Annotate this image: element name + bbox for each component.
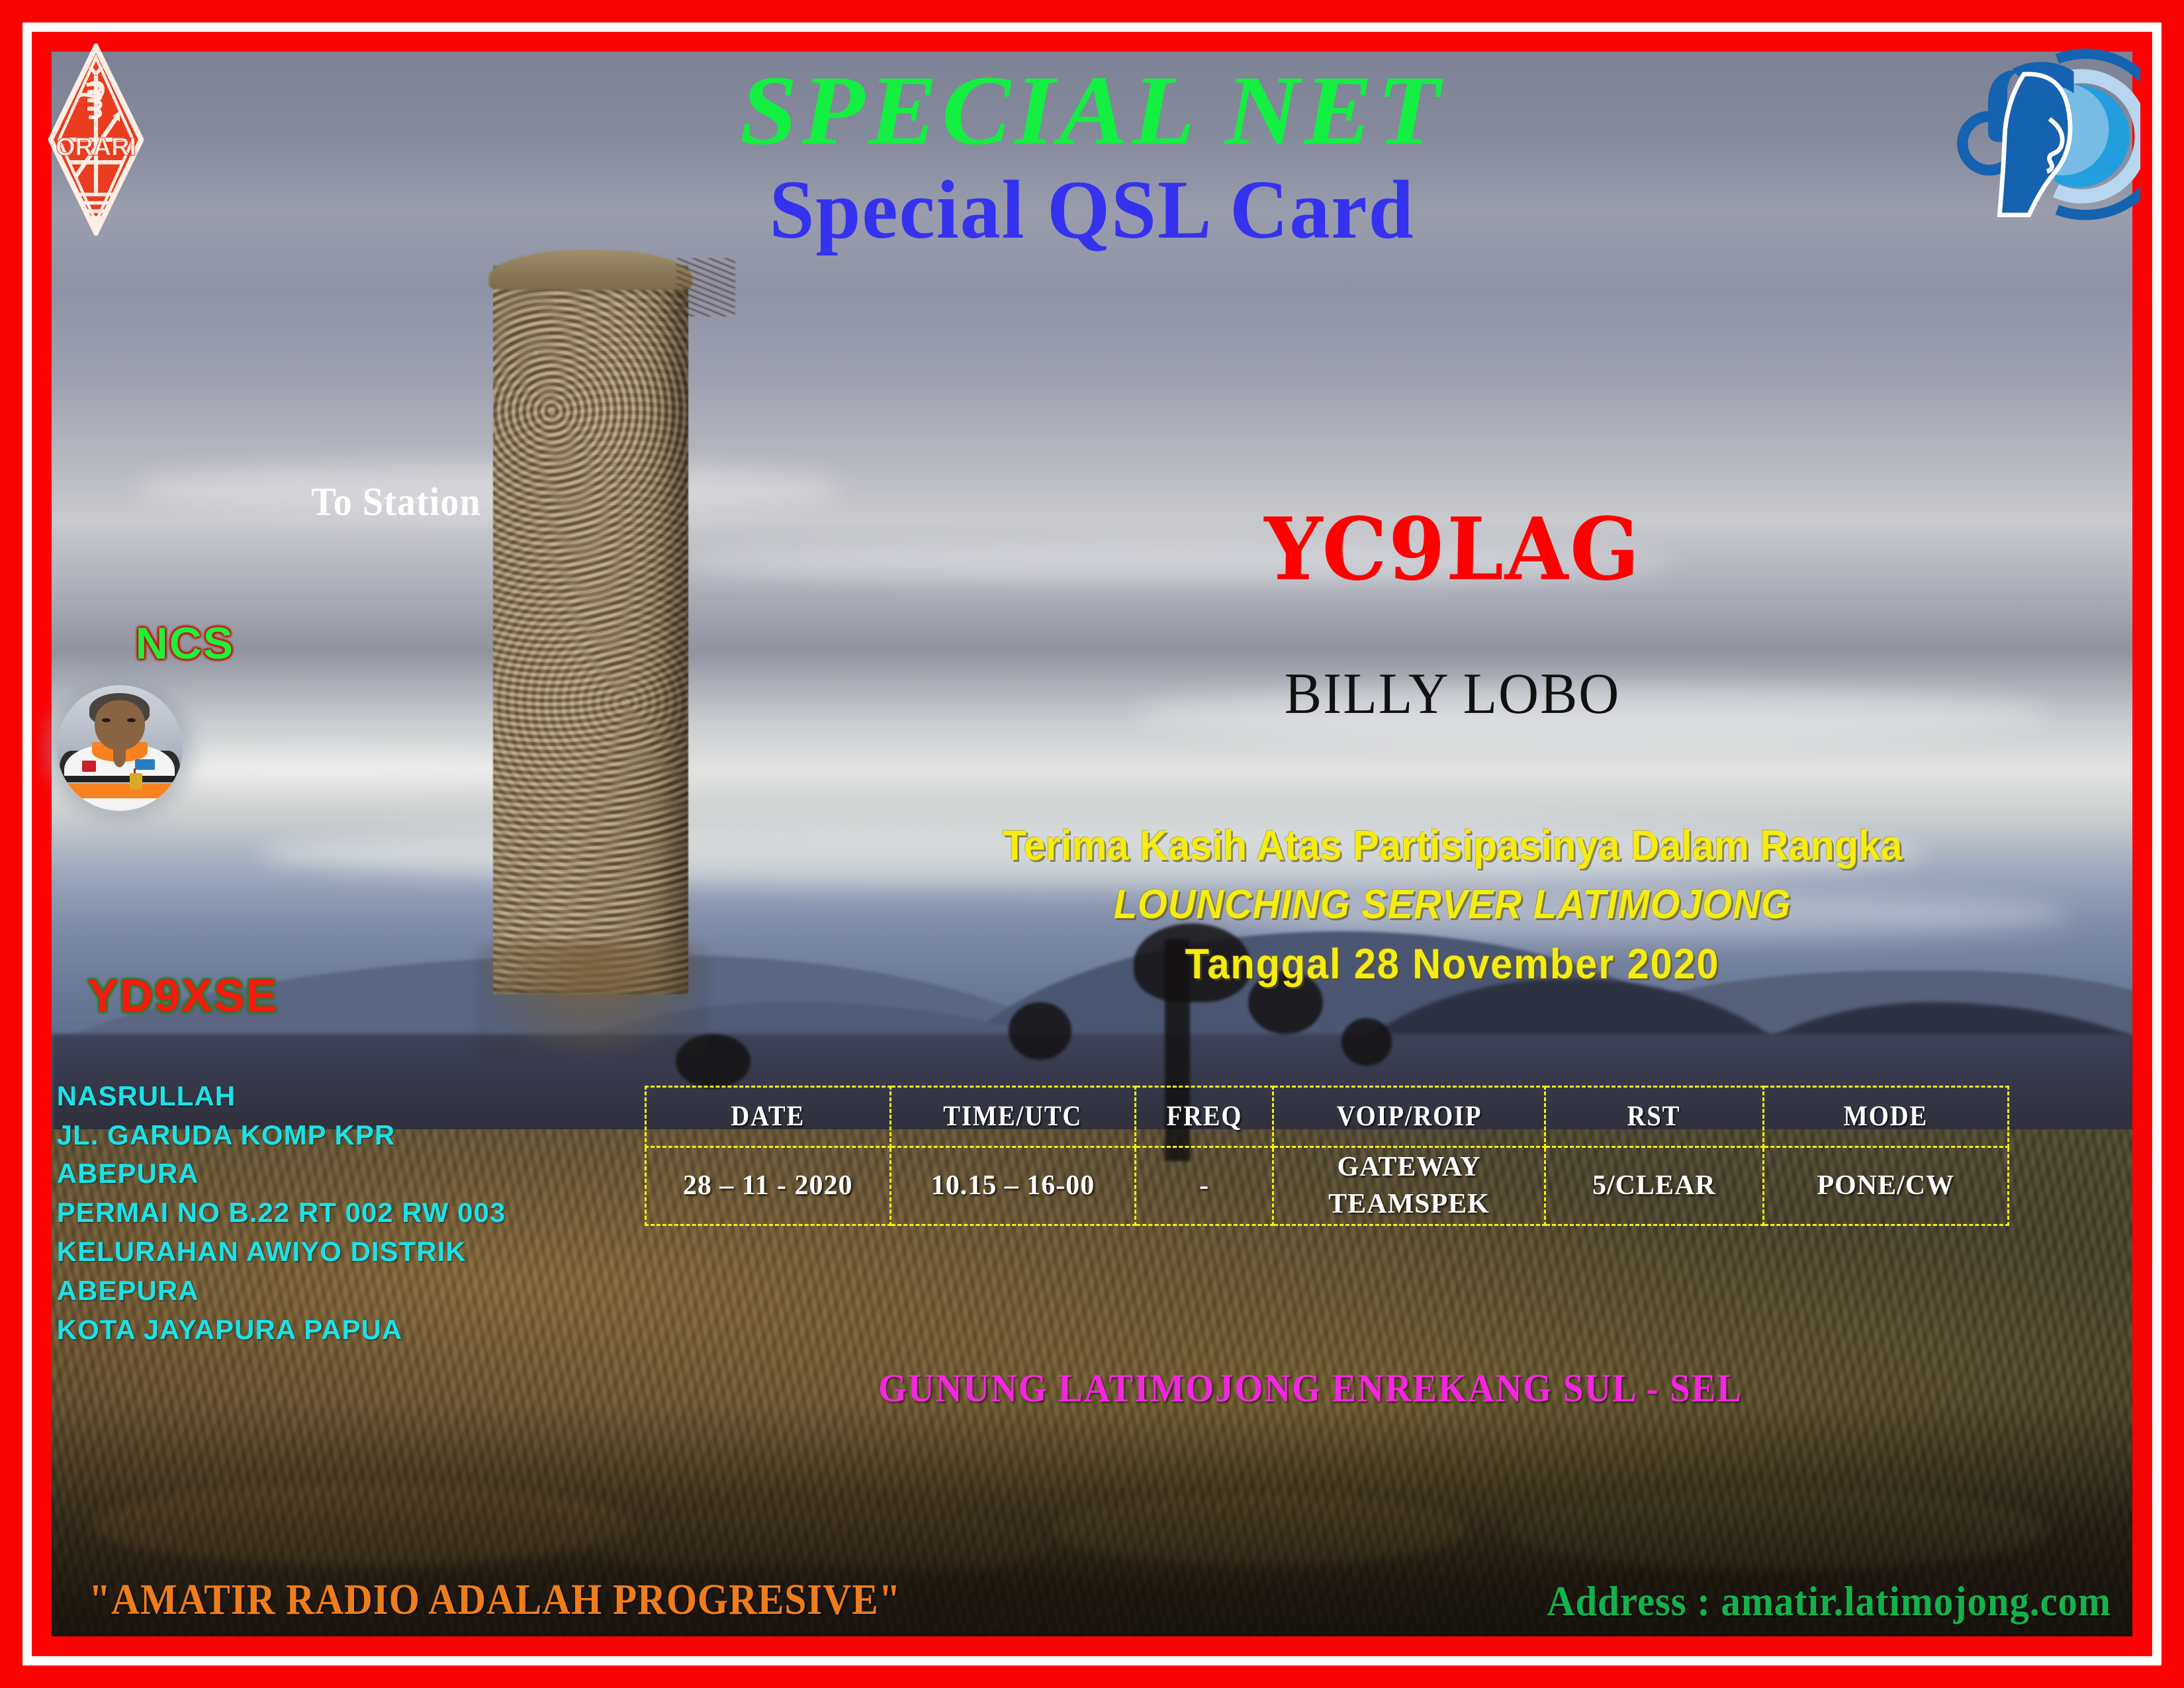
thanks-line-1: Terima Kasih Atas Partisipasinya Dalam R… [833, 816, 2071, 876]
location-caption: GUNUNG LATIMOJONG ENREKANG SUL - SEL [667, 1366, 1953, 1411]
cell-voip: GATEWAY TEAMSPEK [1273, 1147, 1545, 1225]
cell-rst: 5/CLEAR [1545, 1147, 1763, 1225]
table-header-row: DATE TIME/UTC FREQ VOIP/ROIP RST MODE [645, 1086, 2009, 1147]
avatar-id-card [130, 773, 142, 790]
avatar-shirt-stripe [64, 776, 175, 782]
address-line: KOTA JAYAPURA PAPUA [57, 1311, 931, 1350]
address-line: ABEPURA [57, 1272, 931, 1311]
thanks-block: Terima Kasih Atas Partisipasinya Dalam R… [786, 816, 2118, 994]
to-station-callsign: YC9LAG [943, 506, 1961, 592]
qso-log-table: DATE TIME/UTC FREQ VOIP/ROIP RST MODE 28… [645, 1086, 2010, 1226]
to-station-label: To Station [311, 479, 481, 525]
qsl-card: ORARI SPECIAL NET Special QSL Card To St… [0, 0, 2184, 1688]
footer-slogan: "AMATIR RADIO ADALAH PROGRESIVE" [89, 1575, 901, 1625]
ncs-label: NCS [136, 618, 235, 669]
cell-freq: - [1136, 1147, 1273, 1225]
avatar-shirt-sash [64, 783, 175, 798]
col-header-rst: RST [1556, 1086, 1752, 1147]
cell-date: 28 – 11 - 2020 [645, 1147, 890, 1225]
cell-mode: PONE/CW [1763, 1147, 2008, 1225]
cell-voip-line-1: GATEWAY [1275, 1149, 1543, 1186]
avatar-badge-right [135, 759, 155, 769]
cell-voip-line-2: TEAMSPEK [1275, 1186, 1543, 1223]
ncs-callsign: YD9XSE [87, 969, 278, 1022]
ncs-operator-avatar [57, 685, 183, 811]
col-header-mode: MODE [1776, 1086, 1996, 1147]
page-subtitle: Special QSL Card [33, 169, 2152, 252]
avatar-badge-left [82, 761, 96, 772]
page-title: SPECIAL NET [0, 61, 2184, 160]
address-line: KELURAHAN AWIYO DISTRIK [57, 1233, 931, 1272]
footer-web-address: Address : amatir.latimojong.com [1547, 1577, 2112, 1626]
to-station-operator-name: BILLY LOBO [938, 665, 1966, 724]
col-header-time: TIME/UTC [903, 1086, 1123, 1147]
table-row: 28 – 11 - 2020 10.15 – 16-00 - GATEWAY T… [645, 1147, 2009, 1225]
avatar-face [95, 700, 145, 751]
col-header-voip: VOIP/ROIP [1287, 1086, 1531, 1147]
col-header-freq: FREQ [1142, 1086, 1266, 1147]
thanks-line-2: LOUNCHING SERVER LATIMOJONG [833, 876, 2071, 934]
thanks-line-3: Tanggal 28 November 2020 [833, 934, 2071, 994]
overlay-content: ORARI SPECIAL NET Special QSL Card To St… [0, 0, 2184, 1688]
cell-time: 10.15 – 16-00 [890, 1147, 1135, 1225]
col-header-date: DATE [658, 1086, 878, 1147]
